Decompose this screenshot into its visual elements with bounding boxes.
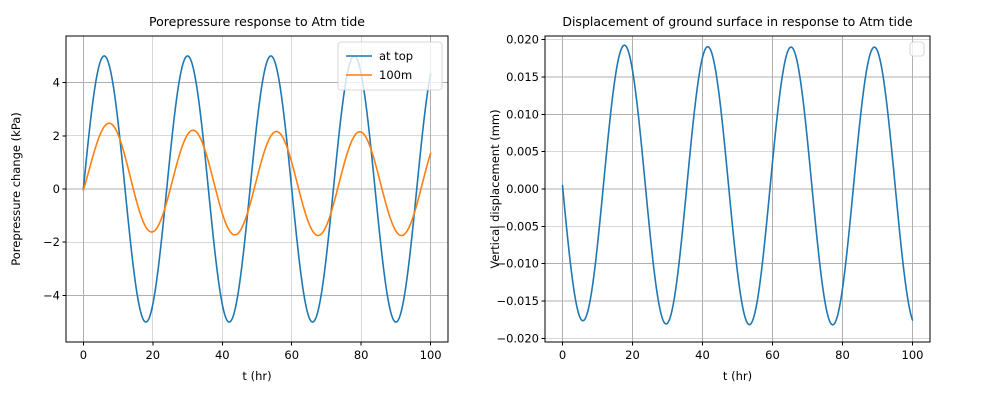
y-tick-label: 0.005 [506,145,539,159]
y-tick-label: −0.020 [496,331,539,345]
chart-title: Porepressure response to Atm tide [149,14,365,29]
y-tick-label: 2 [53,129,60,143]
x-tick-label: 100 [420,348,442,362]
legend-label-0: at top [379,49,413,63]
y-tick-label: −0.010 [496,257,539,271]
x-tick-label: 20 [625,348,640,362]
x-tick-label: 60 [284,348,299,362]
axis-ticks: 020406080100−0.020−0.015−0.010−0.0050.00… [496,33,923,362]
x-tick-label: 80 [835,348,850,362]
chart-title: Displacement of ground surface in respon… [562,14,913,29]
series-line-vertical-displacement [563,45,913,325]
x-tick-label: 80 [354,348,369,362]
y-axis-label: Vertical displacement (mm) [488,109,502,268]
x-tick-label: 60 [765,348,780,362]
y-tick-label: 0 [53,182,60,196]
legend-label-1: 100m [379,68,412,82]
figure-canvas: Porepressure response to Atm tide0204060… [0,0,1000,400]
x-tick-label: 0 [80,348,87,362]
displacement-chart-svg: Displacement of ground surface in respon… [500,0,1000,400]
y-tick-label: 0.020 [506,33,539,47]
y-tick-label: −2 [43,235,60,249]
y-tick-label: −0.005 [496,219,539,233]
chart-legend[interactable] [910,42,924,56]
y-tick-label: 0.010 [506,107,539,121]
y-tick-label: 4 [53,76,60,90]
chart-legend[interactable]: at top100m [338,42,442,90]
chart-panel-porepressure: Porepressure response to Atm tide0204060… [0,0,500,400]
x-tick-label: 40 [695,348,710,362]
x-tick-label: 100 [902,348,924,362]
y-tick-label: 0.015 [506,70,539,84]
x-tick-label: 40 [215,348,230,362]
y-tick-label: −4 [43,288,60,302]
x-tick-label: 0 [559,348,566,362]
x-tick-label: 20 [145,348,160,362]
y-tick-label: −0.015 [496,294,539,308]
x-axis-label: t (hr) [723,369,752,383]
legend-background-empty [910,42,924,56]
axis-ticks: 020406080100−4−2024 [43,76,442,362]
porepressure-chart-svg: Porepressure response to Atm tide0204060… [0,0,500,400]
y-axis-label: Porepressure change (kPa) [9,112,23,266]
chart-panel-displacement: Displacement of ground surface in respon… [500,0,1000,400]
x-axis-label: t (hr) [242,369,271,383]
y-tick-label: 0.000 [506,182,539,196]
